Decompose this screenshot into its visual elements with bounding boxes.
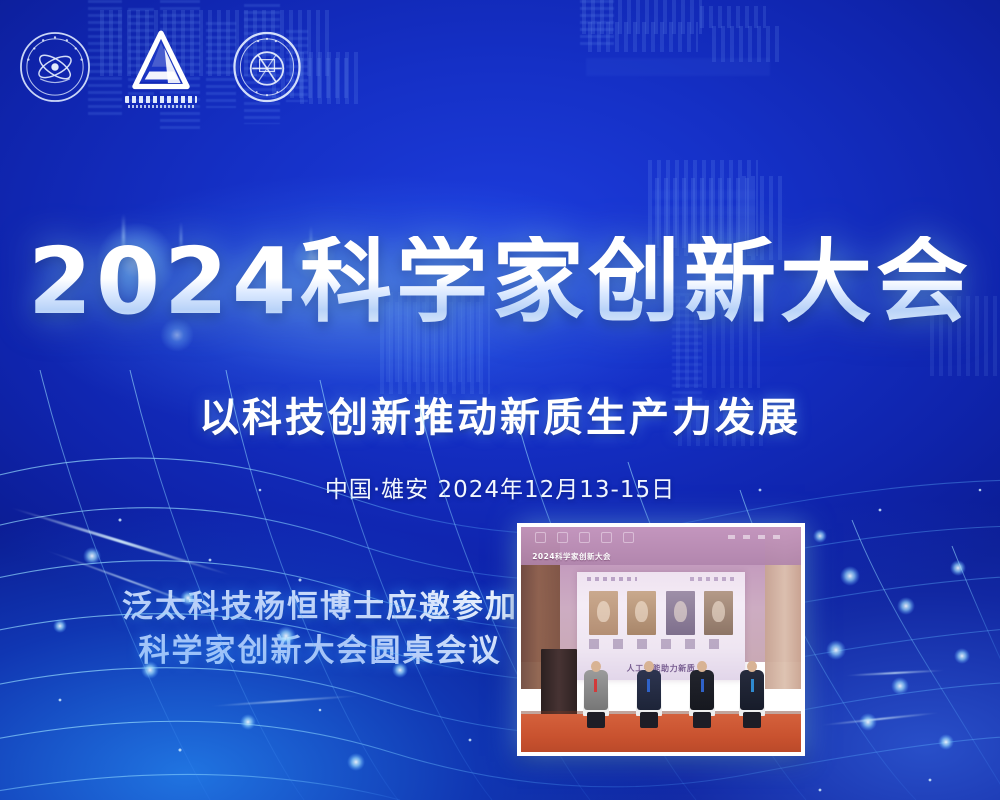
page-title: 2024科学家创新大会 xyxy=(0,236,1000,328)
light-streak xyxy=(210,695,360,707)
roundtable-panel-photo: 2024科学家创新大会 人工智能助力新质 xyxy=(517,523,805,756)
panelist xyxy=(636,686,662,716)
light-streak xyxy=(11,506,232,576)
academy-seal-logo xyxy=(18,30,92,104)
subtitle: 以科技创新推动新质生产力发展 xyxy=(0,385,1000,443)
triangle-association-logo xyxy=(122,30,200,108)
photo-banner-title: 2024科学家创新大会 xyxy=(532,551,611,562)
event-location-date: 中国·雄安 2024年12月13-15日 xyxy=(0,470,1000,504)
panelist xyxy=(583,686,609,716)
caption-line-1: 泛太科技杨恒博士应邀参加 xyxy=(120,585,520,629)
logo-row xyxy=(18,30,304,108)
light-streak xyxy=(845,669,945,676)
podium xyxy=(541,649,577,717)
photo-banner: 2024科学家创新大会 xyxy=(521,527,801,565)
presentation-screen: 人工智能助力新质 xyxy=(577,572,745,680)
panelist xyxy=(739,686,765,716)
light-streak xyxy=(820,712,940,727)
institute-seal-logo xyxy=(230,30,304,104)
caption: 泛太科技杨恒博士应邀参加 科学家创新大会圆桌会议 xyxy=(120,585,520,673)
conference-poster: 2024科学家创新大会 以科技创新推动新质生产力发展 中国·雄安 2024年12… xyxy=(0,0,1000,800)
caption-line-2: 科学家创新大会圆桌会议 xyxy=(120,629,520,673)
panelist xyxy=(689,686,715,716)
